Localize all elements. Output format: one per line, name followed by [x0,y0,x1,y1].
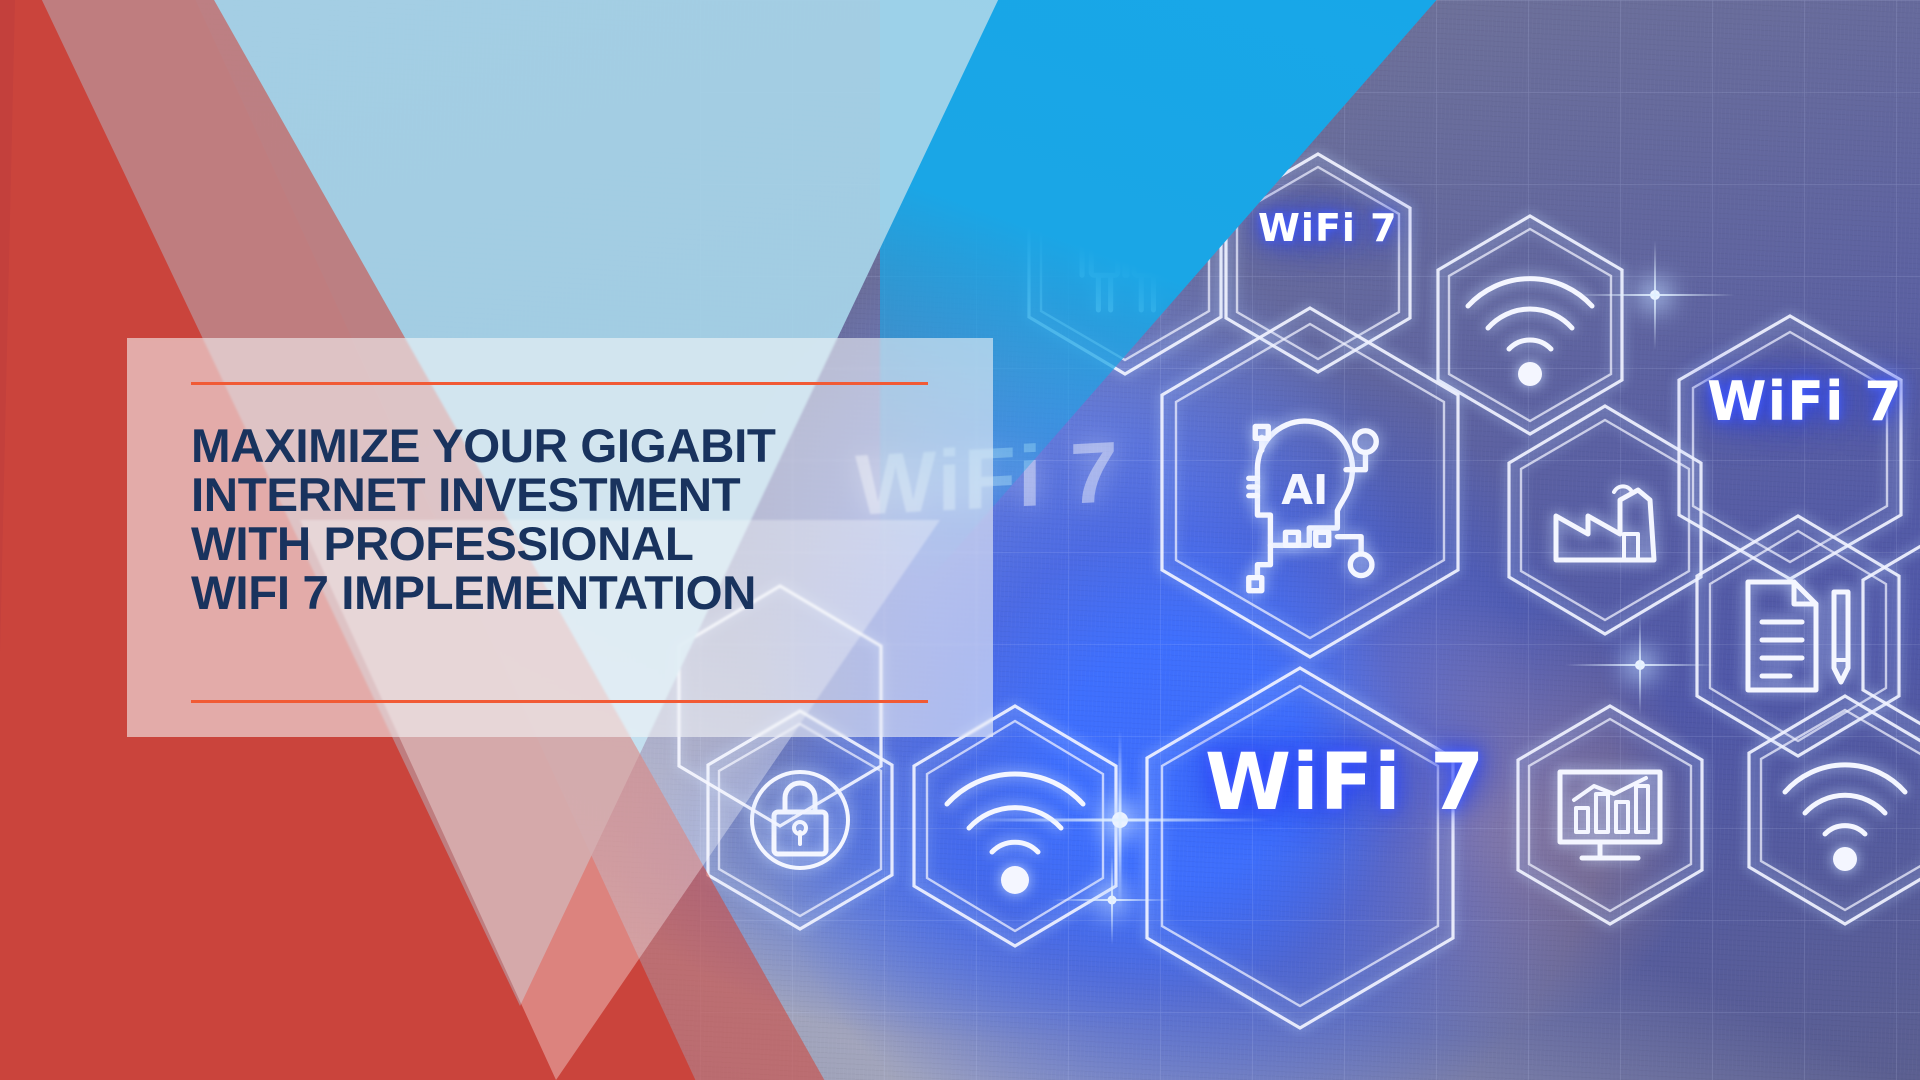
document-pen-icon [1748,582,1848,690]
page-title: MAXIMIZE YOUR GIGABIT INTERNET INVESTMEN… [191,422,951,618]
hex-node-wifi-signal-2 [905,700,1125,952]
wifi-signal-icon [1468,279,1592,386]
hero-banner: WiFi 7 [0,0,1920,1080]
wifi-signal-icon [1785,765,1905,871]
ai-head-icon: AI [1249,421,1376,591]
wifi7-badge-large: WiFi 7 [1205,738,1485,828]
analytics-chart-icon [1560,772,1660,858]
divider-top [191,382,928,385]
headline-line-2: INTERNET INVESTMENT [191,471,951,520]
headline-line-3: WITH PROFESSIONAL [191,520,951,569]
hex-node-edge-right [1855,520,1920,750]
factory-icon [1556,486,1654,560]
wifi-signal-icon [947,774,1083,894]
wifi7-badge-top: WiFi 7 [1258,206,1398,250]
svg-text:AI: AI [1281,466,1328,514]
headline-card: MAXIMIZE YOUR GIGABIT INTERNET INVESTMEN… [127,338,993,737]
headline-line-1: MAXIMIZE YOUR GIGABIT [191,422,951,471]
wifi7-badge-right: WiFi 7 [1707,370,1903,433]
hex-node-ai: AI [1150,300,1470,670]
hex-node-analytics [1510,700,1710,930]
divider-bottom [191,700,928,703]
headline-line-4: WIFI 7 IMPLEMENTATION [191,569,951,618]
hex-node-wifi7-large [1135,660,1465,1040]
